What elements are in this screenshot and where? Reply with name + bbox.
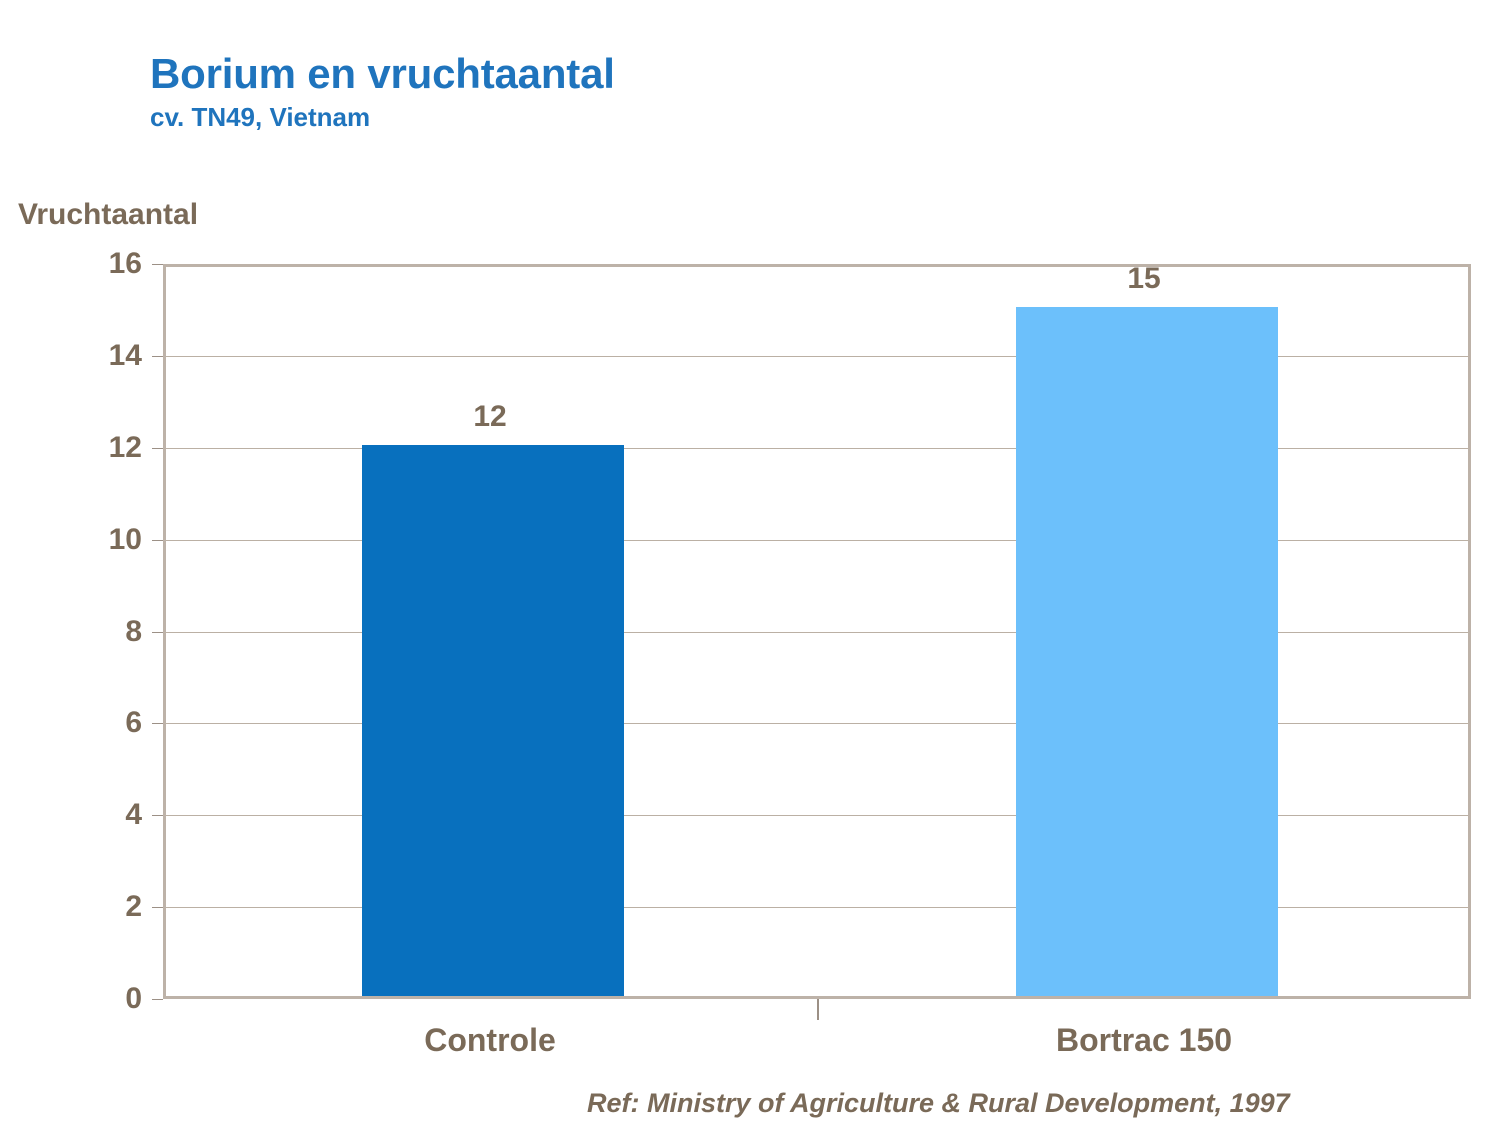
y-tick-mark — [152, 264, 163, 265]
x-axis-label: Bortrac 150 — [1056, 1022, 1232, 1059]
y-tick-mark — [152, 999, 163, 1000]
y-tick-label: 10 — [10, 523, 142, 557]
y-tick-label: 2 — [10, 890, 142, 924]
y-tick-mark — [152, 723, 163, 724]
bar-bortrac-150 — [1016, 307, 1278, 996]
chart-canvas: 1614121086420 ControleBortrac 150 1215 — [0, 0, 1500, 1125]
bar-value-label: 12 — [473, 400, 506, 434]
y-tick-label: 12 — [10, 431, 142, 465]
y-tick-label: 16 — [10, 247, 142, 281]
plot-area — [163, 264, 1471, 999]
x-axis-label: Controle — [424, 1022, 556, 1059]
y-tick-mark — [152, 448, 163, 449]
y-tick-label: 14 — [10, 339, 142, 373]
x-axis-tick — [817, 999, 819, 1020]
y-tick-mark — [152, 356, 163, 357]
y-tick-label: 0 — [10, 982, 142, 1016]
y-tick-mark — [152, 815, 163, 816]
bar-value-label: 15 — [1127, 262, 1160, 296]
y-tick-mark — [152, 907, 163, 908]
bar-controle — [362, 445, 624, 996]
slide-root: { "header": { "title": "Borium en vrucht… — [0, 0, 1500, 1125]
y-tick-mark — [152, 540, 163, 541]
y-tick-mark — [152, 632, 163, 633]
y-tick-label: 6 — [10, 706, 142, 740]
reference-note: Ref: Ministry of Agriculture & Rural Dev… — [587, 1088, 1290, 1119]
y-tick-label: 8 — [10, 615, 142, 649]
y-tick-label: 4 — [10, 798, 142, 832]
